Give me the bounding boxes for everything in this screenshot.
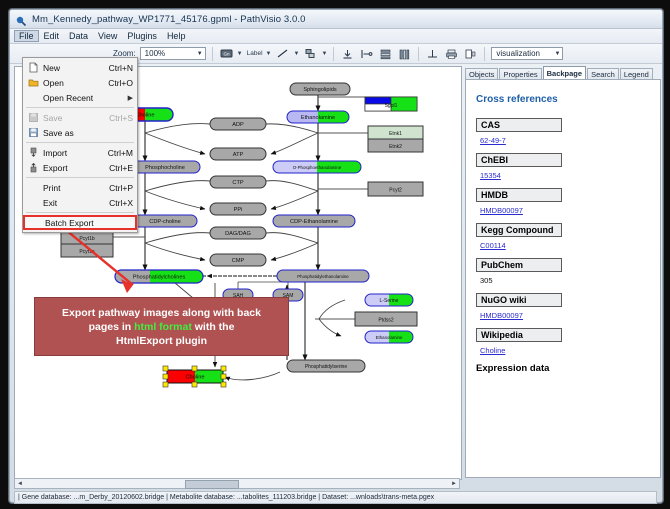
node-label-etnk2: Etnk2 xyxy=(389,144,402,150)
node-label-ppi: PPi xyxy=(234,207,243,213)
stack-columns-icon[interactable] xyxy=(397,46,412,61)
menu-item-batch-export[interactable]: Batch Export xyxy=(23,215,137,230)
menu-item-exit-accel: Ctrl+X xyxy=(109,198,133,208)
menu-item-open-label: Open xyxy=(43,78,108,88)
menu-item-export[interactable]: Export Ctrl+E xyxy=(23,160,137,175)
menu-item-print[interactable]: Print Ctrl+P xyxy=(23,180,137,195)
menu-item-new-label: New xyxy=(43,63,109,73)
callout-line-2c: with the xyxy=(192,321,235,333)
xref-kegg-label: Kegg Compound xyxy=(476,223,562,237)
layout-icon[interactable] xyxy=(425,46,440,61)
shape-tool-icon[interactable] xyxy=(303,46,318,61)
xref-hmdb: HMDB HMDB00097 xyxy=(476,185,660,215)
node-label-cdp-ethanolamine: CDP-Ethanolamine xyxy=(290,219,338,225)
node-label-cdp-choline: CDP-choline xyxy=(149,219,180,225)
menu-item-save-label: Save xyxy=(43,113,109,123)
open-folder-icon xyxy=(27,77,39,89)
node-label-phosphatidylethanolamine: Phosphatidylethanolamine xyxy=(297,274,349,279)
line-dropdown-arrow-icon[interactable]: ▼ xyxy=(293,51,299,57)
menu-separator-4 xyxy=(26,212,134,213)
menu-edit[interactable]: Edit xyxy=(39,30,65,42)
node-label-phosphocholine: Phosphocholine xyxy=(145,165,185,171)
node-label-o-phosphoethanolamine: O-Phosphoethanolamine xyxy=(293,165,342,170)
zoom-combo[interactable]: 100% ▼ xyxy=(140,47,206,60)
xref-pubchem-value: 305 xyxy=(480,276,660,285)
xref-chebi-value[interactable]: 15354 xyxy=(480,171,660,180)
pathvisio-app-icon xyxy=(16,14,27,25)
node-label-ptdss2: Ptdss2 xyxy=(378,318,394,324)
side-panel-tabs[interactable]: Objects Properties Backpage Search Legen… xyxy=(465,66,661,80)
xref-kegg: Kegg Compound C00114 xyxy=(476,220,660,250)
node-label-choline-top: Choline xyxy=(136,113,155,119)
menu-item-import-accel: Ctrl+M xyxy=(108,148,133,158)
cross-references-title: Cross references xyxy=(476,94,660,105)
application-window: Mm_Kennedy_pathway_WP1771_45176.gpml - P… xyxy=(9,9,663,503)
node-label-pcyt1b: Pcyt1b xyxy=(79,236,95,242)
annotation-callout: Export pathway images along with back pa… xyxy=(34,297,289,356)
xref-nugo: NuGO wiki HMDB00097 xyxy=(476,290,660,320)
visualization-combo-value: visualization xyxy=(496,49,540,58)
label-dropdown-arrow-icon[interactable]: ▼ xyxy=(266,51,272,57)
menu-help[interactable]: Help xyxy=(162,30,191,42)
node-label-pcyt2: Pcyt2 xyxy=(389,188,402,194)
menu-item-save-accel: Ctrl+S xyxy=(109,113,133,123)
callout-line-2: pages in html format with the xyxy=(89,320,235,334)
scroll-right-icon[interactable]: ► xyxy=(449,479,459,488)
menu-item-print-label: Print xyxy=(43,183,109,193)
blank-icon-2 xyxy=(27,182,39,194)
menu-item-exit[interactable]: Exit Ctrl+X xyxy=(23,195,137,210)
canvas-horizontal-scrollbar[interactable]: ◄ ► xyxy=(14,478,460,489)
toolbar-separator-3 xyxy=(418,47,419,61)
xref-nugo-label: NuGO wiki xyxy=(476,293,562,307)
node-label-phosphatidylserine: Phosphatidylserine xyxy=(305,364,347,370)
export-icon xyxy=(27,162,39,174)
print-icon[interactable] xyxy=(444,46,459,61)
node-label-adp: ADP xyxy=(232,122,244,128)
node-label-ethanolamine-2: Ethanolamine xyxy=(376,335,403,340)
toolbar-separator-4 xyxy=(484,47,485,61)
shape-dropdown-arrow-icon[interactable]: ▼ xyxy=(321,51,327,57)
menu-file[interactable]: File xyxy=(14,30,39,42)
node-label-dag: DAG/DAG xyxy=(225,231,251,237)
menu-item-open-recent-label: Open Recent xyxy=(43,93,128,103)
expression-data-title: Expression data xyxy=(476,363,660,374)
zoom-combo-value: 100% xyxy=(145,49,165,58)
node-label-l-serine: L-Serine xyxy=(380,298,399,304)
menu-item-new-accel: Ctrl+N xyxy=(109,63,133,73)
xref-chebi: ChEBI 15354 xyxy=(476,150,660,180)
menu-bar[interactable]: File Edit Data View Plugins Help xyxy=(10,29,662,44)
datanode-dropdown-arrow-icon[interactable]: ▼ xyxy=(237,51,243,57)
callout-line-2a: pages in xyxy=(89,321,135,333)
screenshot-root: Mm_Kennedy_pathway_WP1771_45176.gpml - P… xyxy=(0,0,670,509)
node-label-atp: ATP xyxy=(233,152,244,158)
menu-item-save-as-label: Save as xyxy=(43,128,133,138)
menu-item-open-accel: Ctrl+O xyxy=(108,78,133,88)
menu-item-export-label: Export xyxy=(43,163,109,173)
save-as-icon xyxy=(27,127,39,139)
side-panel: Objects Properties Backpage Search Legen… xyxy=(465,66,661,478)
xref-cas: CAS 62-49-7 xyxy=(476,115,660,145)
align-top-icon[interactable] xyxy=(340,46,355,61)
submenu-arrow-icon: ▶ xyxy=(128,94,133,102)
callout-line-3: HtmlExport plugin xyxy=(116,334,207,348)
node-label-choline-bottom: Choline xyxy=(186,375,205,381)
import-icon xyxy=(27,147,39,159)
label-tool-icon[interactable]: Label xyxy=(247,50,263,57)
xref-wikipedia-value[interactable]: Choline xyxy=(480,346,660,355)
xref-chebi-label: ChEBI xyxy=(476,153,562,167)
backpage-content: Cross references CAS 62-49-7 ChEBI 15354… xyxy=(465,79,661,478)
node-label-phosphatidylcholines: Phosphatidylcholines xyxy=(133,275,186,281)
status-text: | Gene database: ...m_Derby_20120602.bri… xyxy=(18,494,434,501)
xref-hmdb-value[interactable]: HMDB00097 xyxy=(480,206,660,215)
menu-item-batch-export-label: Batch Export xyxy=(45,218,131,228)
chevron-down-icon: ▼ xyxy=(197,51,203,57)
menu-separator-2 xyxy=(26,142,134,143)
xref-pubchem: PubChem 305 xyxy=(476,255,660,285)
node-label-ctp: CTP xyxy=(232,180,243,186)
menu-item-import[interactable]: Import Ctrl+M xyxy=(23,145,137,160)
node-label-cmp: CMP xyxy=(232,258,245,264)
blank-icon-4 xyxy=(29,217,41,229)
xref-cas-value[interactable]: 62-49-7 xyxy=(480,136,660,145)
line-tool-icon[interactable] xyxy=(275,46,290,61)
align-left-icon[interactable] xyxy=(359,46,374,61)
copy-icon[interactable] xyxy=(463,46,478,61)
stack-rows-icon[interactable] xyxy=(378,46,393,61)
blank-icon xyxy=(27,92,39,104)
node-label-pcyt1a: Pcyt1a xyxy=(79,249,95,255)
chevron-down-icon-2: ▼ xyxy=(554,51,560,57)
toolbar-separator-2 xyxy=(333,47,334,61)
xref-kegg-value[interactable]: C00114 xyxy=(480,241,660,250)
visualization-combo[interactable]: visualization ▼ xyxy=(491,47,563,60)
xref-wikipedia: Wikipedia Choline xyxy=(476,325,660,355)
callout-html-format-highlight: html format xyxy=(134,321,192,333)
blank-icon-3 xyxy=(27,197,39,209)
menu-item-open[interactable]: Open Ctrl+O xyxy=(23,75,137,90)
datanode-tool-icon[interactable]: Gn xyxy=(219,46,234,61)
menu-separator-1 xyxy=(26,107,134,108)
title-bar: Mm_Kennedy_pathway_WP1771_45176.gpml - P… xyxy=(10,10,662,29)
menu-item-new[interactable]: New Ctrl+N xyxy=(23,60,137,75)
status-bar: | Gene database: ...m_Derby_20120602.bri… xyxy=(14,491,657,504)
save-disk-icon xyxy=(27,112,39,124)
menu-item-print-accel: Ctrl+P xyxy=(109,183,133,193)
menu-data[interactable]: Data xyxy=(64,30,93,42)
scrollbar-thumb[interactable] xyxy=(185,480,239,489)
xref-hmdb-label: HMDB xyxy=(476,188,562,202)
menu-item-export-accel: Ctrl+E xyxy=(109,163,133,173)
menu-separator-3 xyxy=(26,177,134,178)
toolbar-separator xyxy=(212,47,213,61)
menu-item-save: Save Ctrl+S xyxy=(23,110,137,125)
new-file-icon xyxy=(27,62,39,74)
tab-backpage[interactable]: Backpage xyxy=(543,66,586,80)
menu-item-import-label: Import xyxy=(43,148,108,158)
xref-pubchem-label: PubChem xyxy=(476,258,562,272)
callout-line-1: Export pathway images along with back xyxy=(62,306,261,320)
xref-nugo-value[interactable]: HMDB00097 xyxy=(480,311,660,320)
node-label-sgpl1: Sgpl1 xyxy=(385,103,398,109)
xref-cas-label: CAS xyxy=(476,118,562,132)
file-menu-dropdown[interactable]: New Ctrl+N Open Ctrl+O Open Recent ▶ Sav… xyxy=(22,57,138,233)
menu-item-open-recent[interactable]: Open Recent ▶ xyxy=(23,90,137,105)
svg-text:Gn: Gn xyxy=(223,51,230,56)
window-title: Mm_Kennedy_pathway_WP1771_45176.gpml - P… xyxy=(32,14,306,25)
menu-view[interactable]: View xyxy=(93,30,122,42)
xref-wikipedia-label: Wikipedia xyxy=(476,328,562,342)
scroll-left-icon[interactable]: ◄ xyxy=(15,479,25,488)
node-label-etnk1: Etnk1 xyxy=(389,131,402,137)
menu-plugins[interactable]: Plugins xyxy=(122,30,162,42)
menu-item-exit-label: Exit xyxy=(43,198,109,208)
node-label-sphingolipids: Sphingolipids xyxy=(303,87,336,93)
node-label-ethanolamine-1: Ethanolamine xyxy=(301,115,335,121)
menu-item-save-as[interactable]: Save as xyxy=(23,125,137,140)
